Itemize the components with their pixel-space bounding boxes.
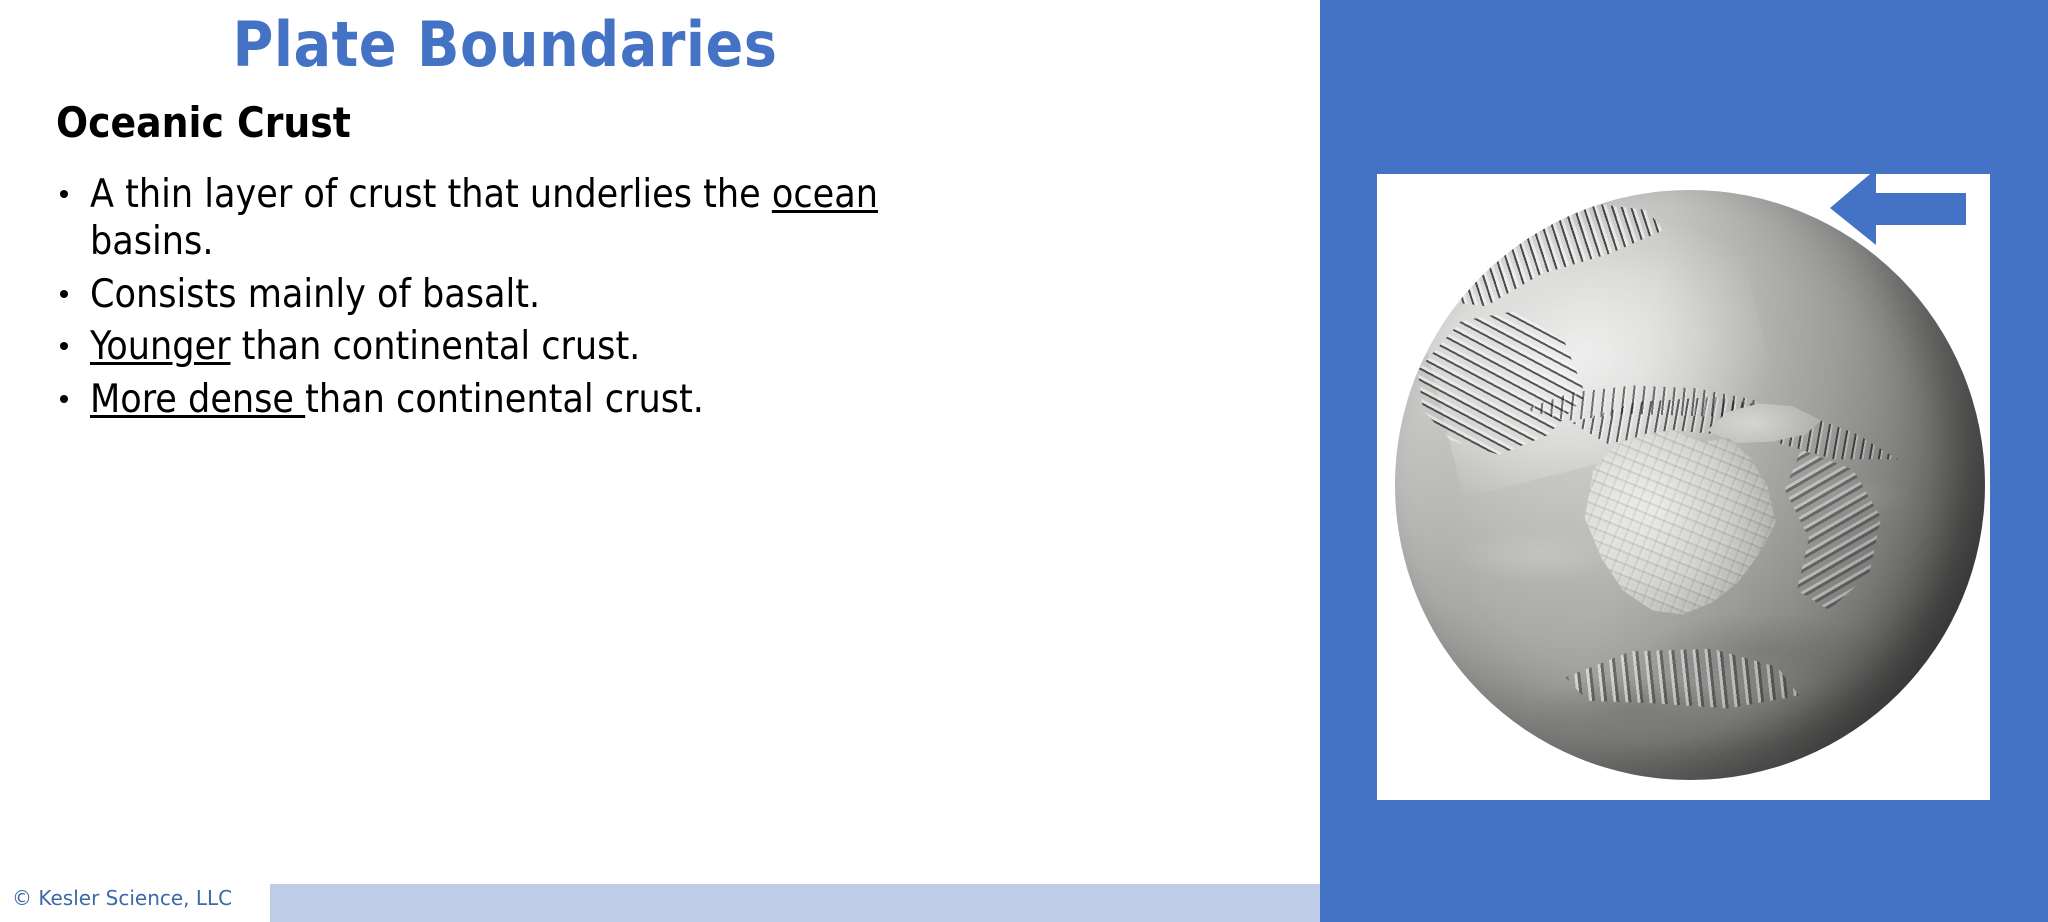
- bullet-dot-icon: [60, 395, 68, 403]
- bullet-text-post: basins.: [90, 219, 213, 264]
- presentation-slide: Plate Boundaries Oceanic Crust A thin la…: [0, 0, 2048, 922]
- globe-image-frame: [1377, 174, 1990, 800]
- bullet-text-post: than continental crust.: [305, 377, 704, 422]
- bullet-dot-icon: [60, 290, 68, 298]
- copyright-notice: © Kesler Science, LLC: [12, 884, 232, 912]
- earth-globe-graphic: [1395, 190, 1985, 780]
- list-item: Younger than continental crust.: [56, 324, 936, 371]
- section-subheading: Oceanic Crust: [56, 100, 351, 146]
- bullet-dot-icon: [60, 190, 68, 198]
- bullet-text-underlined: ocean: [772, 172, 878, 217]
- bullet-text-underlined: Younger: [90, 324, 230, 369]
- footer-bar: [270, 884, 1320, 922]
- left-arrow-icon: [1830, 163, 1966, 245]
- bullet-text-pre: Consists mainly of basalt.: [90, 272, 540, 317]
- bullet-text-underlined: More dense: [90, 377, 305, 422]
- bullet-list: A thin layer of crust that underlies the…: [56, 172, 936, 430]
- list-item: A thin layer of crust that underlies the…: [56, 172, 936, 266]
- list-item: Consists mainly of basalt.: [56, 272, 936, 319]
- page-title: Plate Boundaries: [0, 14, 1010, 76]
- bullet-text-post: than continental crust.: [230, 324, 640, 369]
- bullet-dot-icon: [60, 342, 68, 350]
- globe-limb-shading: [1395, 190, 1985, 780]
- globe-image: [1377, 174, 1990, 800]
- list-item: More dense than continental crust.: [56, 377, 936, 424]
- bullet-text-pre: A thin layer of crust that underlies the: [90, 172, 772, 217]
